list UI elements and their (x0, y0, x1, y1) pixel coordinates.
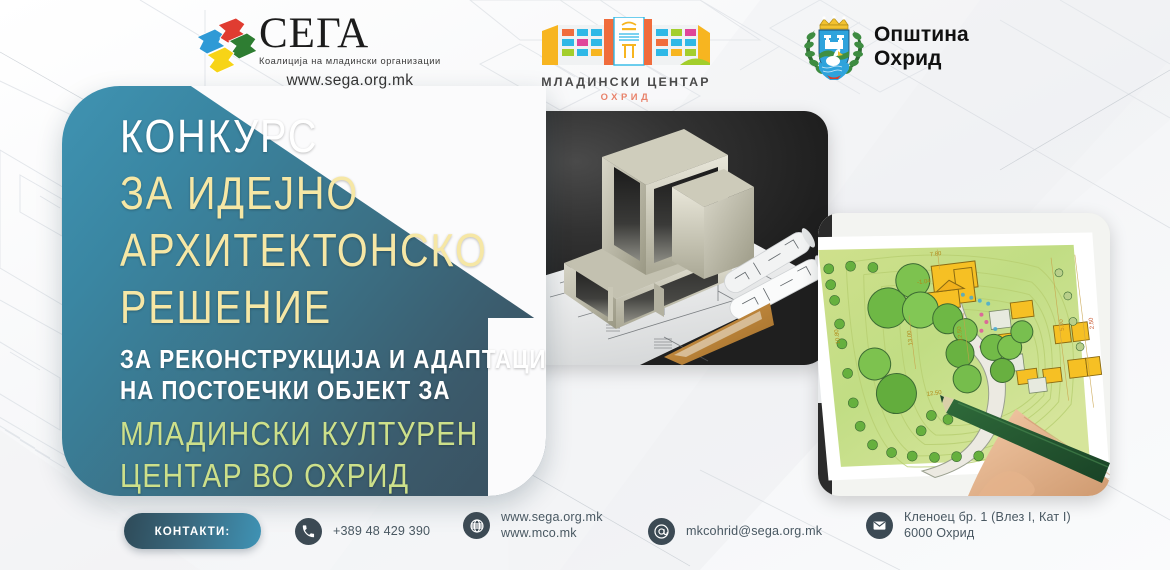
logo-youth-center: МЛАДИНСКИ ЦЕНТАР ОХРИД (540, 17, 712, 102)
contacts-button[interactable]: КОНТАКТИ: (124, 513, 261, 549)
title-line-4: РЕШЕНИЕ (120, 279, 464, 336)
title-line-2: ЗА ИДЕЈНО (120, 165, 464, 222)
title-line-5: ЗА РЕКОНСТРУКЦИЈА И АДАПТАЦИЈА (120, 344, 464, 375)
contact-phone[interactable]: +389 48 429 390 (295, 518, 430, 545)
phone-icon (295, 518, 322, 545)
title-line-8: ЦЕНТАР ВО ОХРИД (120, 455, 464, 496)
contact-email[interactable]: mkcohrid@sega.org.mk (648, 518, 822, 545)
contact-bar: КОНТАКТИ: +389 48 429 390 www.sega.org.m… (0, 506, 1170, 566)
contact-websites-text: www.sega.org.mk www.mco.mk (501, 510, 603, 541)
logo-youth-center-name: МЛАДИНСКИ ЦЕНТАР (541, 75, 710, 89)
page-title: КОНКУРС ЗА ИДЕЈНО АРХИТЕКТОНСКО РЕШЕНИЕ … (120, 108, 520, 496)
contact-websites[interactable]: www.sega.org.mk www.mco.mk (463, 510, 603, 541)
contact-address-line-1: Кленоец бр. 1 (Влез I, Кат I) (904, 510, 1071, 526)
announcement-panel: КОНКУРС ЗА ИДЕЈНО АРХИТЕКТОНСКО РЕШЕНИЕ … (62, 86, 546, 496)
contact-address-text: Кленоец бр. 1 (Влез I, Кат I) 6000 Охрид (904, 510, 1071, 541)
header-logo-bar: СЕГА Коалиција на младински организации … (0, 0, 1170, 100)
contact-website-2: www.mco.mk (501, 526, 603, 542)
building-blocks-icon (540, 17, 712, 71)
logo-sega-subtitle: Коалиција на младински организации (259, 56, 441, 66)
contact-email-text: mkcohrid@sega.org.mk (686, 524, 822, 540)
logo-municipality-name: Општина Охрид (874, 23, 969, 70)
contact-address-line-2: 6000 Охрид (904, 526, 1071, 542)
site-plan-illustration: 7.80 -1.04 10.80 13.00 12.50 12.50 5.00 … (818, 213, 1110, 496)
logo-municipality-line2: Охрид (874, 47, 969, 71)
contact-website-1: www.sega.org.mk (501, 510, 603, 526)
envelope-icon (866, 512, 893, 539)
photo-landscape-site-plan: 7.80 -1.04 10.80 13.00 12.50 12.50 5.00 … (818, 213, 1110, 496)
title-line-3: АРХИТЕКТОНСКО (120, 222, 464, 279)
logo-sega-url: www.sega.org.mk (259, 72, 441, 90)
at-sign-icon (648, 518, 675, 545)
title-line-6: НА ПОСТОЕЧКИ ОБЈЕКТ ЗА (120, 375, 464, 406)
logo-sega: СЕГА Коалиција на младински организации … (193, 14, 441, 90)
coat-of-arms-icon (803, 14, 865, 80)
title-line-1: КОНКУРС (120, 108, 464, 165)
globe-icon (463, 512, 490, 539)
title-line-7: МЛАДИНСКИ КУЛТУРЕН (120, 413, 464, 455)
logo-municipality: Општина Охрид (803, 14, 969, 80)
logo-sega-word: СЕГА (259, 14, 441, 55)
puzzle-pieces-icon (193, 17, 263, 75)
logo-municipality-line1: Општина (874, 23, 969, 47)
logo-youth-center-city: ОХРИД (601, 91, 652, 102)
contact-address[interactable]: Кленоец бр. 1 (Влез I, Кат I) 6000 Охрид (866, 510, 1071, 541)
contact-phone-text: +389 48 429 390 (333, 524, 430, 540)
